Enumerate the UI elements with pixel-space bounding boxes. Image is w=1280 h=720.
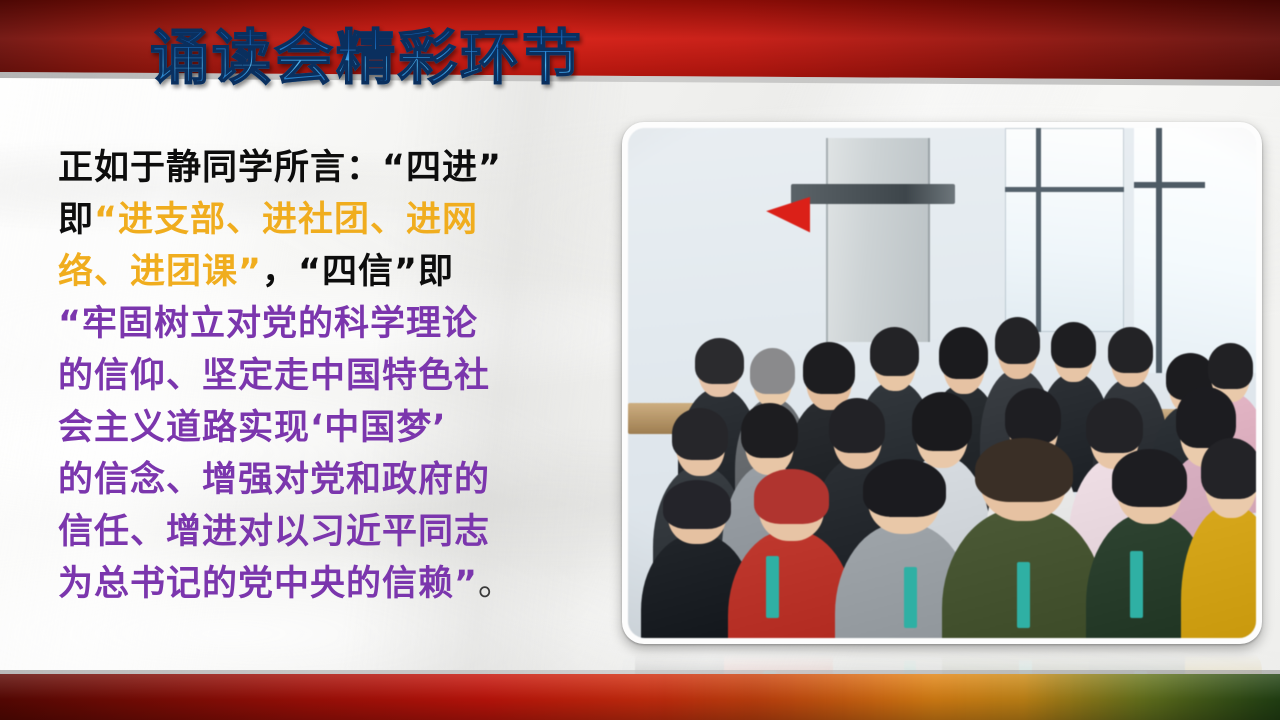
photo-person-hair	[1051, 322, 1096, 368]
bottom-bar-sheen	[0, 674, 1280, 720]
photo-person-hair	[741, 403, 798, 458]
photo-person-hair	[1005, 388, 1062, 445]
photo-window-left	[1005, 128, 1124, 332]
text-segment: ，	[262, 252, 298, 292]
photo-person-hair	[1112, 449, 1187, 507]
photo-chair-leg	[904, 567, 917, 628]
text-segment: 。	[478, 564, 514, 604]
photo-person-hair	[672, 408, 729, 460]
photo-person-hair	[1208, 343, 1253, 389]
text-segment-quote: “牢固树立对党的科学理论	[58, 304, 478, 344]
photo-person-hair	[1108, 327, 1153, 373]
photo-door	[826, 138, 930, 342]
photo-person-hair	[829, 398, 886, 453]
photo-person-hair	[1086, 398, 1143, 453]
text-segment-quote: 信任、增进对以习近平同志	[58, 512, 490, 552]
photo-frame	[622, 122, 1262, 644]
photo-chair-leg	[1017, 562, 1030, 628]
photo-person-hair	[912, 392, 972, 450]
text-segment-highlight: 络、进团课”	[58, 252, 262, 292]
text-segment-highlight: “进支部、进社团、进网	[94, 200, 478, 240]
text-line-9: 为总书记的党中央的信赖”。	[58, 558, 614, 610]
text-segment-quote: 会主义道路实现‘中国梦’	[58, 408, 447, 448]
photo-ceiling-beam	[791, 184, 954, 204]
text-line-2: 即“进支部、进社团、进网	[58, 194, 614, 246]
text-segment-quote: 的信仰、坚定走中国特色社	[58, 356, 490, 396]
photo-person-hair	[803, 342, 856, 394]
text-segment: “四信”	[298, 252, 418, 292]
text-segment-quote: 为总书记的党中央的信赖”	[58, 564, 478, 604]
photo-person-hair	[663, 480, 731, 529]
presentation-slide: 诵读会精彩环节 正如于静同学所言：“四进” 即“进支部、进社团、进网 络、进团课…	[0, 0, 1280, 720]
text-line-1: 正如于静同学所言：“四进”	[58, 142, 614, 194]
photo-person-hair	[995, 317, 1040, 364]
text-line-8: 信任、增进对以习近平同志	[58, 506, 614, 558]
text-segment: 即	[58, 200, 94, 240]
slide-title: 诵读会精彩环节	[150, 28, 584, 88]
text-line-7: 的信念、增强对党和政府的	[58, 454, 614, 506]
photo-person-hair	[750, 348, 795, 394]
photo-window-right	[1134, 128, 1256, 373]
text-segment: 正如于静同学所言：	[58, 148, 382, 188]
text-segment: “四进”	[382, 148, 502, 188]
photo-person-hair	[754, 469, 829, 524]
text-line-6: 会主义道路实现‘中国梦’	[58, 402, 614, 454]
photo-person-hair	[1201, 438, 1256, 499]
photo-person-hair	[695, 338, 744, 384]
classroom-audience-photo	[628, 128, 1256, 638]
body-text-block: 正如于静同学所言：“四进” 即“进支部、进社团、进网 络、进团课”，“四信”即 …	[58, 142, 614, 610]
text-line-4: “牢固树立对党的科学理论	[58, 298, 614, 350]
photo-person-hair	[939, 327, 988, 379]
photo-chair-leg	[1130, 551, 1143, 617]
text-segment: 即	[418, 252, 454, 292]
photo-person-hair	[863, 459, 946, 517]
text-line-5: 的信仰、坚定走中国特色社	[58, 350, 614, 402]
photo-person-hair	[975, 438, 1073, 502]
text-segment-quote: 的信念、增强对党和政府的	[58, 460, 490, 500]
photo-person-hair	[870, 327, 919, 376]
photo-chair-leg	[766, 556, 779, 617]
text-line-3: 络、进团课”，“四信”即	[58, 246, 614, 298]
